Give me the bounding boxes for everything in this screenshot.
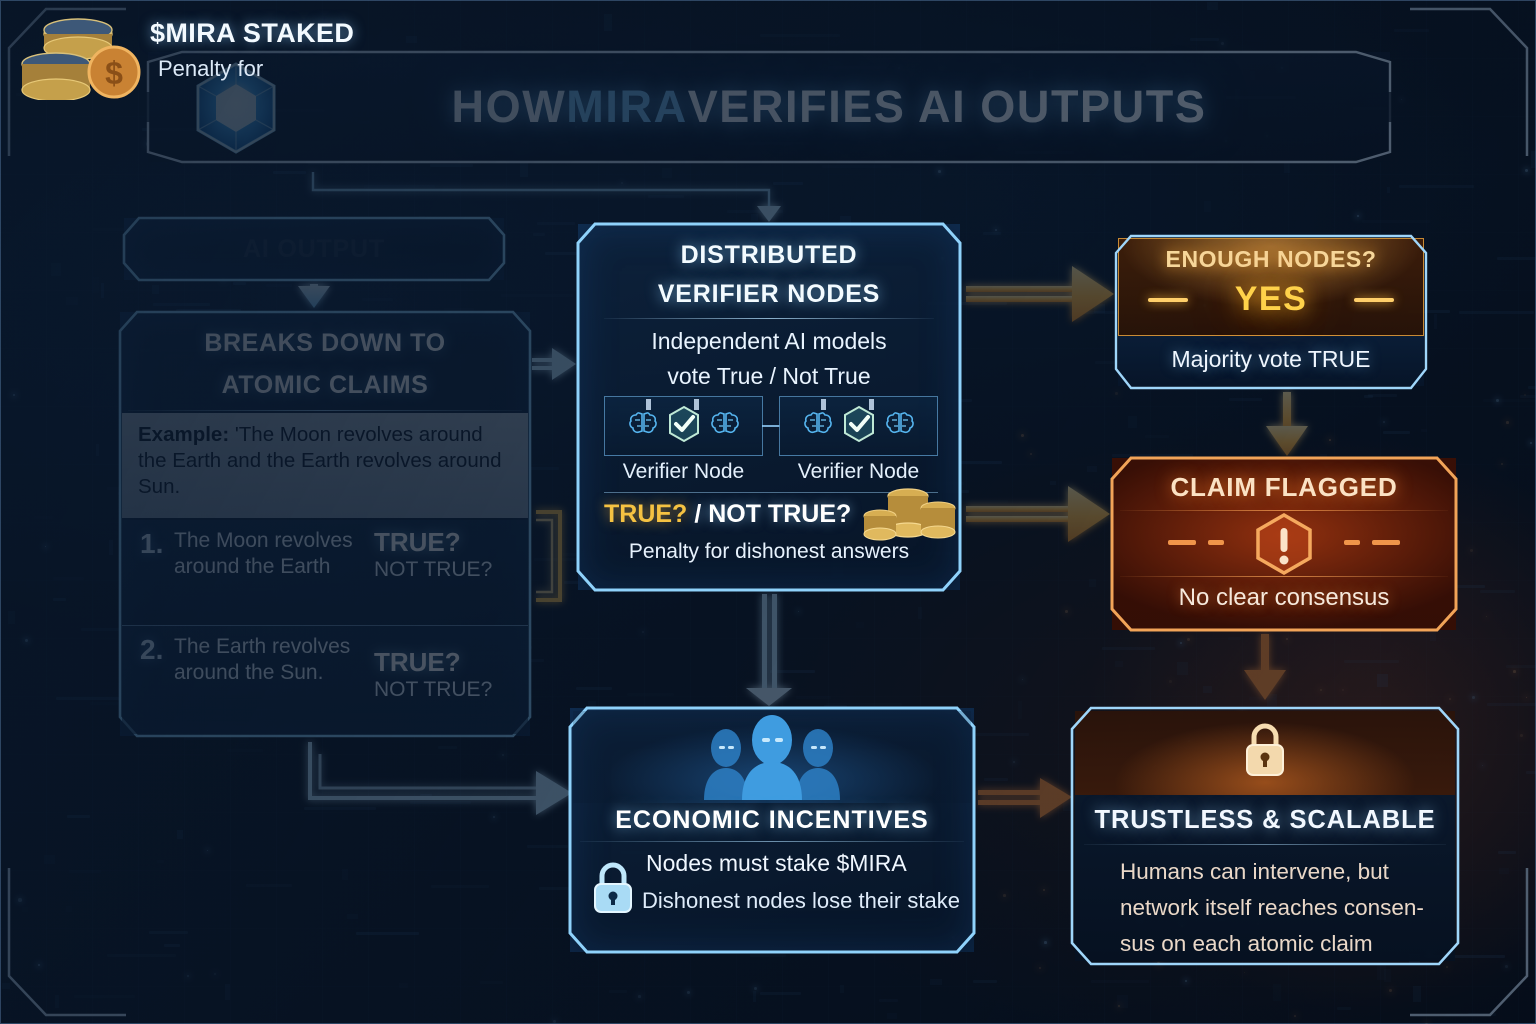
verifier-node-box[interactable] [604,396,763,456]
mira-staked-title: $MIRA STAKED [150,18,354,49]
verifier-nodes-subtitle: Independent AI models vote True / Not Tr… [578,324,960,394]
mira-staked-panel: $ $MIRA STAKED Penalty for [0,0,390,110]
penalty-note: Penalty for dishonest answers [586,540,952,564]
trustless-scalable-panel[interactable]: TRUSTLESS & SCALABLE Humans can interven… [1072,708,1458,964]
economic-incentives-line1: Nodes must stake $MIRA [646,850,907,877]
economic-incentives-title: ECONOMIC INCENTIVES [570,806,974,835]
brain-icon [803,411,833,442]
brain-icon [628,411,658,442]
mira-staked-subtitle: Penalty for [158,56,263,82]
enough-nodes-panel[interactable]: ENOUGH NODES? YES Majority vote TRUE [1116,236,1426,388]
economic-incentives-panel[interactable]: ECONOMIC INCENTIVES Nodes must stake $MI… [570,708,974,952]
verifier-node-box[interactable] [779,396,938,456]
padlock-icon [588,860,638,916]
shield-check-icon [667,405,701,448]
enough-nodes-question: ENOUGH NODES? [1116,246,1426,273]
coin-stack-icon [862,486,958,544]
vote-not-true-label[interactable]: / NOT TRUE? [694,500,851,529]
verifier-nodes-panel[interactable]: DISTRIBUTED VERIFIER NODES Independent A… [578,224,960,590]
trustless-scalable-body: Humans can intervene, but network itself… [1120,854,1442,962]
trustless-scalable-title: TRUSTLESS & SCALABLE [1072,806,1458,835]
humanoid-nodes-icon [682,714,862,800]
claim-flagged-title: CLAIM FLAGGED [1112,472,1456,503]
verifier-nodes-title: DISTRIBUTED VERIFIER NODES [578,236,960,316]
padlock-icon [1239,720,1291,780]
coin-stack-icon: $ [16,18,152,100]
economic-incentives-line2: Dishonest nodes lose their stake [642,888,960,914]
enough-nodes-detail: Majority vote TRUE [1116,346,1426,373]
warning-hexagon-icon [1252,512,1316,576]
verifier-node-group [604,396,938,456]
brain-icon [710,411,740,442]
brain-icon [885,411,915,442]
claim-flagged-panel[interactable]: CLAIM FLAGGED No clear consensus [1112,458,1456,630]
vote-true-label[interactable]: TRUE? [604,500,687,529]
enough-nodes-answer: YES [1116,280,1426,319]
svg-text:$: $ [105,55,123,91]
claim-flagged-detail: No clear consensus [1112,584,1456,612]
shield-check-icon [842,405,876,448]
verifier-node-label: Verifier Node [604,460,763,490]
